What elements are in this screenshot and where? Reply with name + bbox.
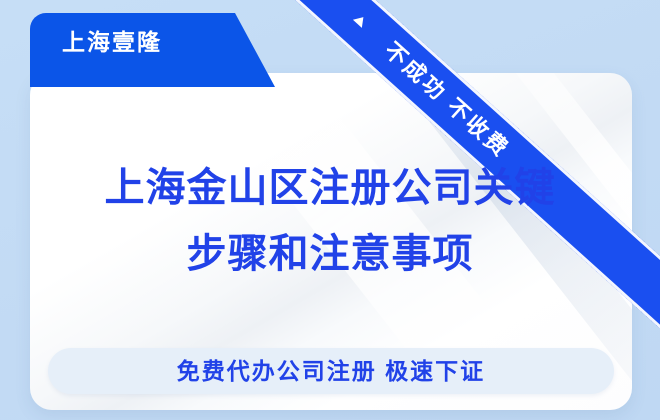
footer-pill-text: 免费代办公司注册 极速下证: [48, 348, 614, 394]
triangle-up-icon: [353, 13, 368, 28]
page-title-line-2: 步骤和注意事项: [0, 221, 660, 287]
footer-pill: 免费代办公司注册 极速下证: [48, 348, 614, 394]
poster-banner: 上海壹隆 不成功 不收费 上海金山区注册公司关键 步骤和注意事项 免费代办公司注…: [0, 0, 660, 420]
page-title: 上海金山区注册公司关键 步骤和注意事项: [0, 155, 660, 287]
brand-tab-label: 上海壹隆: [62, 27, 162, 57]
page-title-line-1: 上海金山区注册公司关键: [0, 155, 660, 221]
brand-tab: 上海壹隆: [30, 13, 275, 87]
